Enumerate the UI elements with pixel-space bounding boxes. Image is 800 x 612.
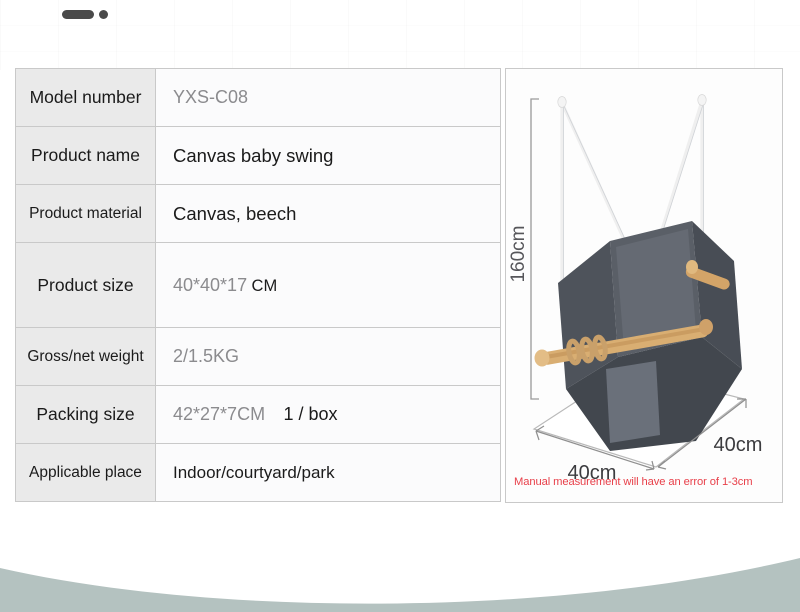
table-row: Gross/net weight 2/1.5KG bbox=[16, 328, 501, 386]
dowel-cap-right bbox=[699, 319, 713, 335]
spec-value-product-size: 40*40*17 CM bbox=[156, 243, 501, 328]
table-row: Packing size 42*27*7CM 1 / box bbox=[16, 386, 501, 444]
height-dimension-label: 160cm bbox=[508, 225, 529, 282]
speaker-bar-icon bbox=[62, 10, 94, 19]
spec-table-body: Model number YXS-C08 Product name Canvas… bbox=[16, 69, 501, 502]
spec-label-gross-net-weight: Gross/net weight bbox=[16, 328, 156, 386]
product-spec-table: Model number YXS-C08 Product name Canvas… bbox=[15, 68, 501, 502]
spec-label-product-size: Product size bbox=[16, 243, 156, 328]
spec-value-box-count: 1 / box bbox=[284, 404, 338, 424]
spec-value-gross-net-weight: 2/1.5KG bbox=[156, 328, 501, 386]
spec-value-model-number: YXS-C08 bbox=[156, 69, 501, 127]
spec-label-model-number: Model number bbox=[16, 69, 156, 127]
spec-label-packing-size: Packing size bbox=[16, 386, 156, 444]
spec-value-text: 42*27*7CM bbox=[173, 404, 265, 424]
camera-dot-icon bbox=[99, 10, 108, 19]
device-notch bbox=[62, 10, 108, 19]
rope-knots bbox=[558, 95, 706, 108]
canvas-baby-swing-illustration: 160cm bbox=[506, 69, 783, 503]
spec-value-unit: CM bbox=[252, 277, 278, 295]
spec-value-product-name: Canvas baby swing bbox=[156, 127, 501, 185]
spec-value-text: 2/1.5KG bbox=[173, 346, 239, 366]
measurement-disclaimer: Manual measurement will have an error of… bbox=[514, 476, 776, 488]
seat-front-flap bbox=[606, 361, 660, 443]
spec-value-text: 40*40*17 bbox=[173, 275, 247, 295]
spec-label-applicable-place: Applicable place bbox=[16, 444, 156, 502]
product-illustration-panel: 160cm bbox=[505, 68, 783, 503]
dowel-cap-left bbox=[535, 350, 550, 367]
paper-texture bbox=[0, 0, 800, 70]
table-row: Applicable place Indoor/courtyard/park bbox=[16, 444, 501, 502]
spec-value-text: Indoor/courtyard/park bbox=[173, 463, 335, 482]
spec-label-product-name: Product name bbox=[16, 127, 156, 185]
table-row: Product material Canvas, beech bbox=[16, 185, 501, 243]
table-row: Model number YXS-C08 bbox=[16, 69, 501, 127]
spec-label-product-material: Product material bbox=[16, 185, 156, 243]
spec-value-text: Canvas, beech bbox=[173, 203, 296, 224]
rear-bar-cap bbox=[686, 260, 698, 274]
bottom-decorative-curve bbox=[0, 542, 800, 612]
spec-value-applicable-place: Indoor/courtyard/park bbox=[156, 444, 501, 502]
spec-value-packing-size: 42*27*7CM 1 / box bbox=[156, 386, 501, 444]
table-row: Product size 40*40*17 CM bbox=[16, 243, 501, 328]
spec-value-text: Canvas baby swing bbox=[173, 145, 333, 166]
spec-value-product-material: Canvas, beech bbox=[156, 185, 501, 243]
spec-value-text: YXS-C08 bbox=[173, 87, 248, 107]
table-row: Product name Canvas baby swing bbox=[16, 127, 501, 185]
depth-dimension-label: 40cm bbox=[714, 434, 763, 456]
